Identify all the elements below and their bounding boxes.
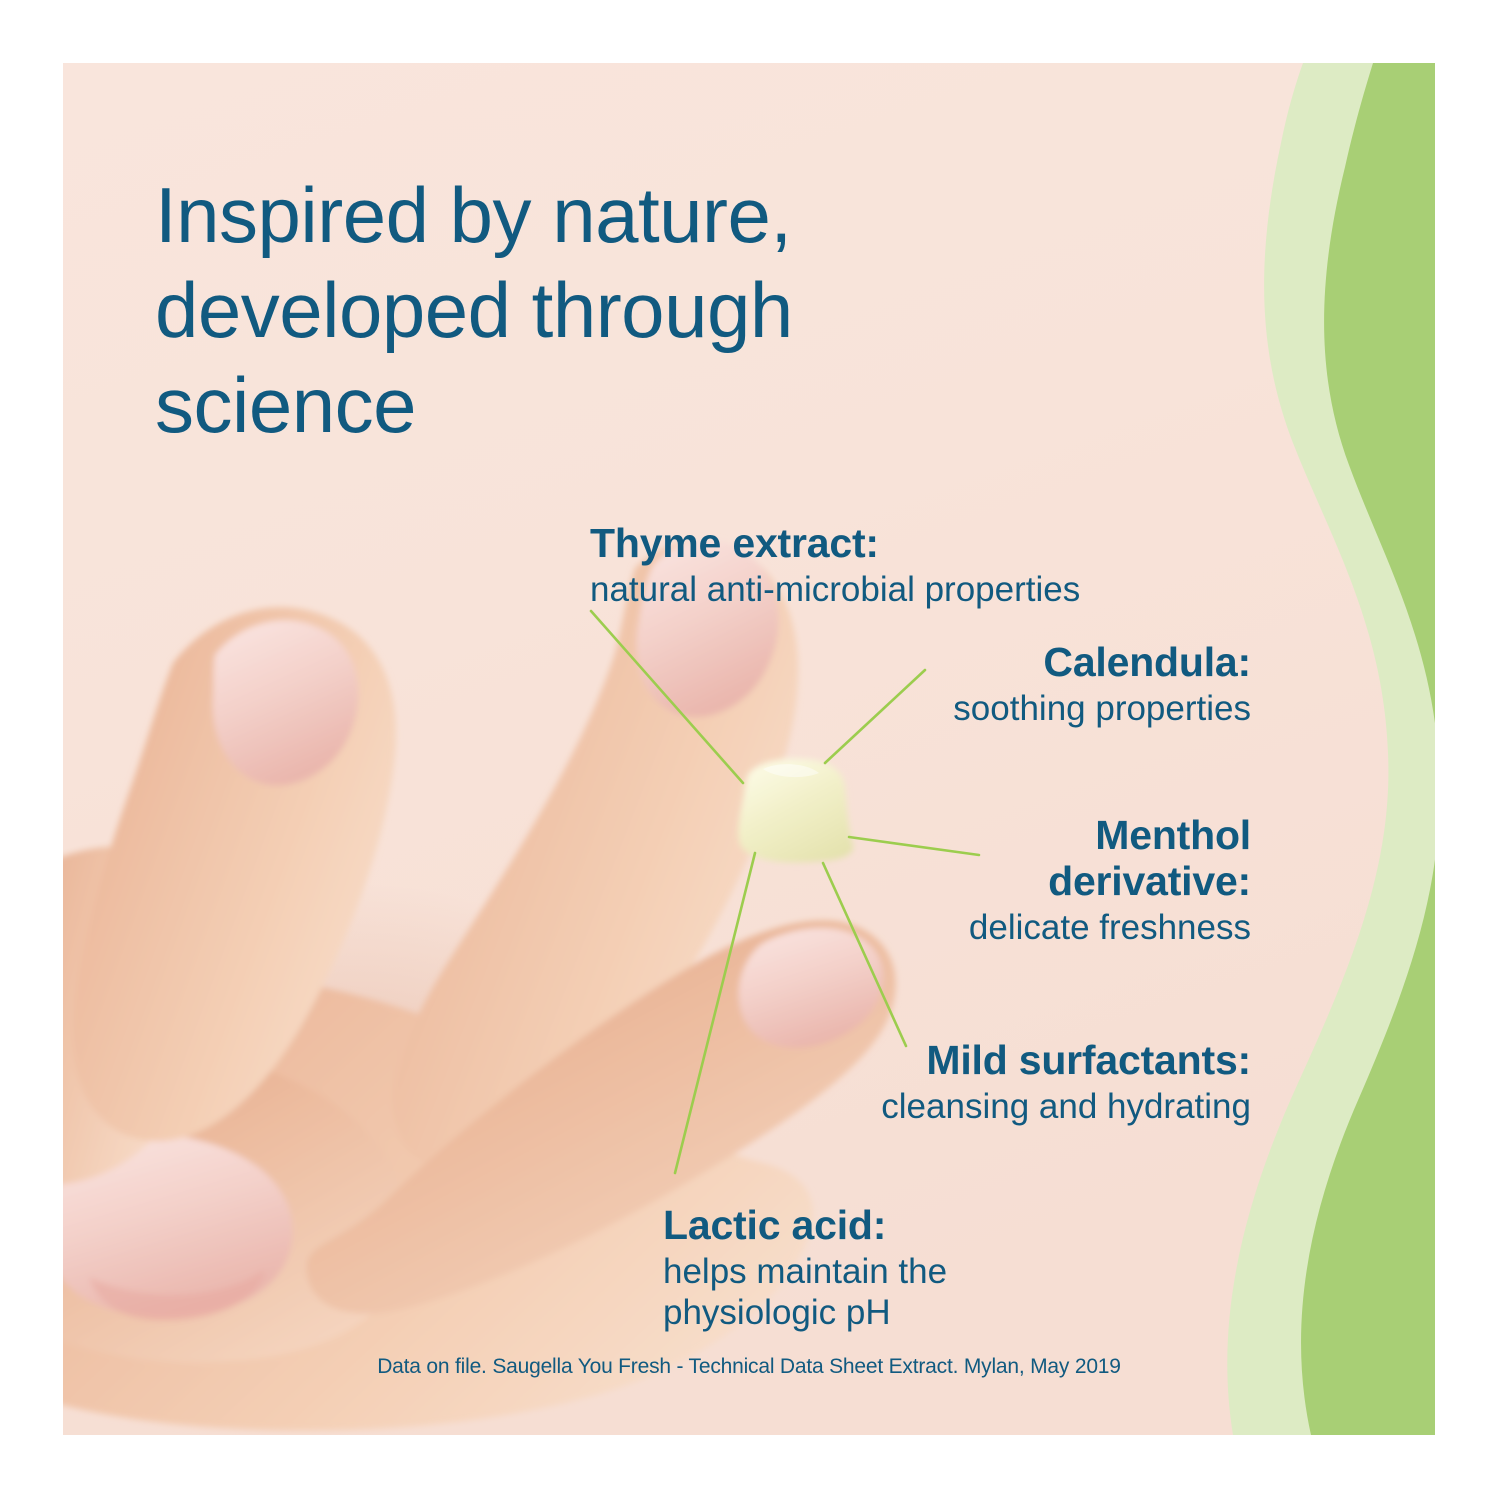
callout-calendula-desc: soothing properties [663,688,1251,729]
callout-thyme-title: Thyme extract: [590,521,1150,567]
content-card: Inspired by nature, developed through sc… [63,63,1435,1435]
callout-surfactants-desc: cleansing and hydrating [703,1086,1251,1127]
callout-calendula: Calendula: soothing properties [663,640,1251,729]
callout-surfactants-title: Mild surfactants: [703,1038,1251,1084]
footnote-reference: Data on file. Saugella You Fresh - Techn… [63,1355,1435,1379]
poster-root: Inspired by nature, developed through sc… [0,0,1500,1500]
callout-lactic-acid-title: Lactic acid: [663,1203,1183,1249]
callout-lactic-acid: Lactic acid: helps maintain the physiolo… [663,1203,1183,1334]
callout-menthol-desc: delicate freshness [803,907,1251,948]
callout-surfactants: Mild surfactants: cleansing and hydratin… [703,1038,1251,1127]
callout-thyme-desc: natural anti-microbial properties [590,569,1150,610]
callout-calendula-title: Calendula: [663,640,1251,686]
callout-thyme: Thyme extract: natural anti-microbial pr… [590,521,1150,610]
page-title: Inspired by nature, developed through sc… [155,168,935,453]
callout-lactic-acid-desc: helps maintain the physiologic pH [663,1251,1183,1334]
callout-menthol: Menthol derivative: delicate freshness [803,813,1251,948]
callout-menthol-title: Menthol derivative: [803,813,1251,905]
